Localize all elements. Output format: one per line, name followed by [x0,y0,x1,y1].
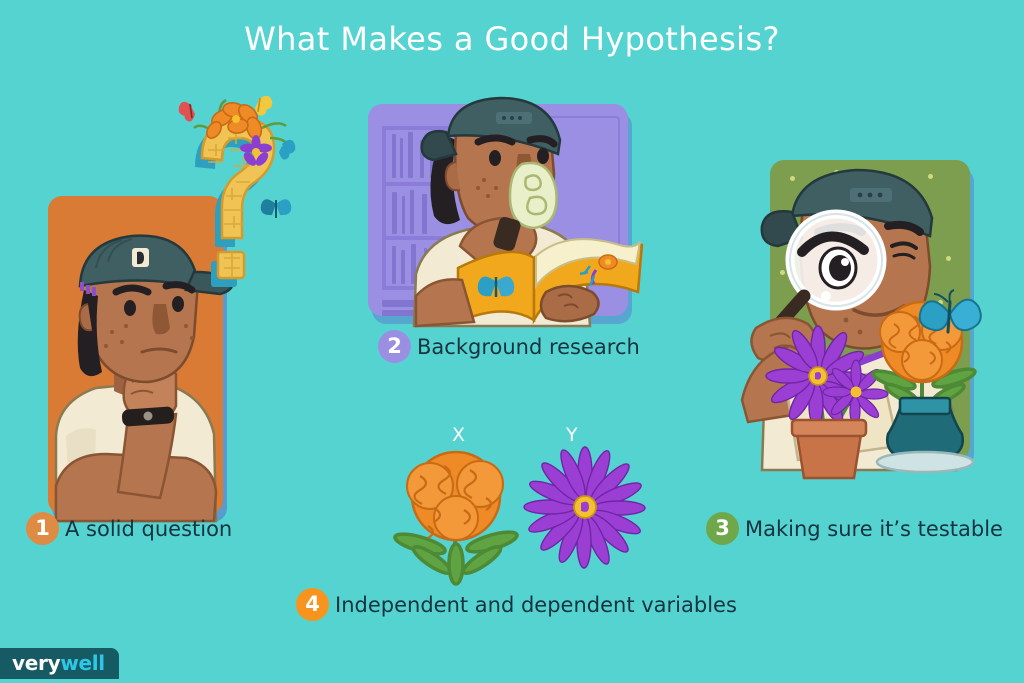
step-item-4[interactable]: 4 Independent and dependent variables [296,588,737,621]
variable-y-label: Y [566,424,578,446]
verywell-logo[interactable]: verywell [0,648,119,679]
step-label-4: Independent and dependent variables [335,593,737,617]
step-badge-4: 4 [296,588,329,621]
step-label-1: A solid question [65,517,232,541]
dependent-variable-aster [530,452,640,562]
step-item-2[interactable]: 2 Background research [378,330,640,363]
logo-text-well: well [60,651,105,675]
step-label-3: Making sure it’s testable [745,517,1003,541]
step-badge-2: 2 [378,330,411,363]
illustration-person-reading-book [400,96,650,326]
independent-variable-marigold [390,448,530,578]
blue-butterfly-icon [918,288,984,340]
logo-text-very: very [12,651,60,675]
variable-x-label: X [452,424,465,446]
step-item-3[interactable]: 3 Making sure it’s testable [706,512,1003,545]
question-mark-with-flowers-icon [178,92,318,322]
infographic-canvas: What Makes a Good Hypothesis? [0,0,1024,683]
step-label-2: Background research [417,335,640,359]
step-item-1[interactable]: 1 A solid question [26,512,232,545]
page-title: What Makes a Good Hypothesis? [0,20,1024,58]
step-badge-3: 3 [706,512,739,545]
step-badge-1: 1 [26,512,59,545]
